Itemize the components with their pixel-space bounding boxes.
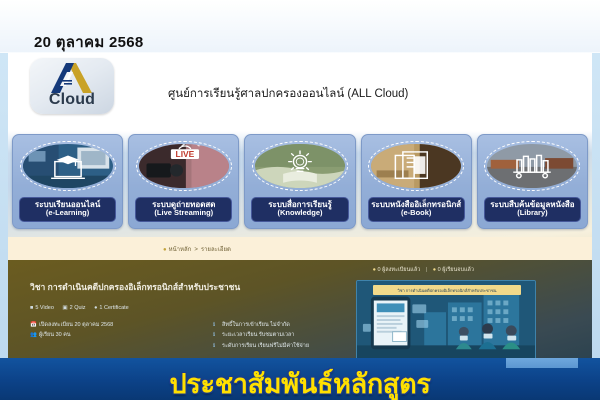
stat-video: ■5 Video <box>30 305 54 311</box>
course-illustration[interactable]: วิชา การดำเนินคดีปกครองอิเล็กทรอนิกส์สำห… <box>356 280 536 362</box>
tile-e-learning[interactable]: ระบบเรียนออนไลน์ (e-Learning) <box>12 134 123 229</box>
stat-video-text: 5 Video <box>35 305 54 311</box>
breadcrumb: ●หน้าหลัก>รายละเอียด <box>163 244 231 254</box>
tile-image-frame: LIVE <box>136 141 232 191</box>
completed-icon: ● <box>433 267 436 273</box>
banner-headline: ประชาสัมพันธ์หลักสูตร <box>0 362 600 400</box>
tile-knowledge[interactable]: ระบบสื่อการเรียนรู้ (Knowledge) <box>244 134 355 229</box>
all-cloud-logo[interactable]: Cloud <box>30 58 114 114</box>
bottom-banner: ประชาสัมพันธ์หลักสูตร <box>0 358 600 400</box>
tiles-band: ระบบเรียนออนไลน์ (e-Learning) <box>8 131 592 237</box>
badge-separator: | <box>426 267 427 273</box>
meta-access-text: สิทธิ์ในการเข้าเรียน ไม่จำกัด <box>222 322 290 328</box>
tile-image-frame <box>252 141 348 191</box>
meta-seats: 👥ผู้เรียน 30 คน <box>30 330 113 340</box>
ebook-icon <box>371 144 461 188</box>
meta-fee: ℹระดับการเรียน เรียนฟรีไม่มีค่าใช้จ่าย <box>213 341 309 351</box>
quiz-icon: ▣ <box>62 305 67 311</box>
tile-label-en: (Library) <box>486 209 579 218</box>
tile-image-frame <box>20 141 116 191</box>
breadcrumb-separator: > <box>194 247 198 253</box>
stat-quiz: ▣2 Quiz <box>62 305 85 311</box>
breadcrumb-home[interactable]: หน้าหลัก <box>169 247 192 253</box>
registered-icon: ● <box>373 267 376 273</box>
illustration-caption: วิชา การดำเนินคดีปกครองอิเล็กทรอนิกส์สำห… <box>373 285 521 295</box>
tile-label: ระบบดูถ่ายทอดสด (Live Streaming) <box>135 197 232 222</box>
users-icon: 👥 <box>30 330 37 340</box>
live-broadcast-icon: LIVE <box>139 144 229 188</box>
tile-label: ระบบสื่อการเรียนรู้ (Knowledge) <box>251 197 348 222</box>
page-edge-right <box>592 53 600 375</box>
tile-label-en: (Knowledge) <box>253 209 346 218</box>
site-card: Cloud ศูนย์การเรียนรู้ศาลปกครองออนไลน์ (… <box>8 53 592 237</box>
enrollment-badges: ● 0 ผู้ลงทะเบียนแล้ว | ● 0 ผู้เรียนจบแล้… <box>373 266 474 274</box>
calendar-icon: 📅 <box>30 320 37 330</box>
tile-library[interactable]: ระบบสืบค้นข้อมูลหนังสือ (Library) <box>477 134 588 229</box>
info-icon: ℹ <box>213 320 220 330</box>
tile-live-streaming[interactable]: LIVE ระบบดูถ่ายทอดสด (Live Streaming) <box>128 134 239 229</box>
registered-count: 0 ผู้ลงทะเบียนแล้ว <box>377 267 420 273</box>
tile-e-book[interactable]: ระบบหนังสืออิเล็กทรอนิกส์ (e-Book) <box>361 134 472 229</box>
tiles-row: ระบบเรียนออนไลน์ (e-Learning) <box>12 134 588 232</box>
course-meta-left: 📅เปิดลงทะเบียน 20 ตุลาคม 2568 👥ผู้เรียน … <box>30 320 113 341</box>
stat-quiz-text: 2 Quiz <box>70 305 86 311</box>
site-title: ศูนย์การเรียนรู้ศาลปกครองออนไลน์ (ALL Cl… <box>168 85 408 103</box>
stat-certificate: ●1 Certificate <box>94 305 129 311</box>
video-icon: ■ <box>30 305 33 311</box>
course-stats: ■5 Video ▣2 Quiz ●1 Certificate <box>30 305 136 311</box>
location-pin-icon: ● <box>163 247 167 253</box>
meta-fee-text: ระดับการเรียน เรียนฟรีไม่มีค่าใช้จ่าย <box>222 343 309 349</box>
tile-label-en: (e-Learning) <box>21 209 114 218</box>
meta-registration-date: 📅เปิดลงทะเบียน 20 ตุลาคม 2568 <box>30 320 113 330</box>
lightbulb-book-icon <box>255 144 345 188</box>
current-date: 20 ตุลาคม 2568 <box>34 30 144 54</box>
certificate-icon: ● <box>94 305 97 311</box>
completed-count: 0 ผู้เรียนจบแล้ว <box>438 267 474 273</box>
meta-access: ℹสิทธิ์ในการเข้าเรียน ไม่จำกัด <box>213 320 309 330</box>
bookshelf-cart-icon <box>487 144 577 188</box>
site-header: Cloud ศูนย์การเรียนรู้ศาลปกครองออนไลน์ (… <box>8 53 592 131</box>
page-edge-left <box>0 53 8 375</box>
meta-duration: ℹระยะเวลาเรียน รับชมตามเวลา <box>213 330 309 340</box>
tile-image-frame <box>368 141 464 191</box>
tile-label: ระบบหนังสืออิเล็กทรอนิกส์ (e-Book) <box>368 197 465 222</box>
tile-label: ระบบสืบค้นข้อมูลหนังสือ (Library) <box>484 197 581 222</box>
date-strip: 20 ตุลาคม 2568 <box>0 0 600 52</box>
logo-a-mark <box>46 62 98 94</box>
meta-duration-text: ระยะเวลาเรียน รับชมตามเวลา <box>222 332 294 338</box>
logo-wordmark: Cloud <box>30 91 114 109</box>
tile-label-en: (Live Streaming) <box>137 209 230 218</box>
info-icon: ℹ <box>213 330 220 340</box>
course-meta-right: ℹสิทธิ์ในการเข้าเรียน ไม่จำกัด ℹระยะเวลา… <box>213 320 309 351</box>
info-icon: ℹ <box>213 341 220 351</box>
meta-registration-date-text: เปิดลงทะเบียน 20 ตุลาคม 2568 <box>39 322 113 328</box>
stat-certificate-text: 1 Certificate <box>99 305 128 311</box>
meta-seats-text: ผู้เรียน 30 คน <box>39 332 71 338</box>
svg-text:LIVE: LIVE <box>175 150 194 159</box>
tile-image-frame <box>484 141 580 191</box>
laptop-graduation-icon <box>23 144 113 188</box>
screenshot-root: 20 ตุลาคม 2568 Cloud ศูนย์การเรียนรู้ศาล… <box>0 0 600 400</box>
breadcrumb-strip: ●หน้าหลัก>รายละเอียด <box>8 237 592 260</box>
tile-label: ระบบเรียนออนไลน์ (e-Learning) <box>19 197 116 222</box>
breadcrumb-current: รายละเอียด <box>201 247 231 253</box>
tile-label-en: (e-Book) <box>370 209 463 218</box>
course-title: วิชา การดำเนินคดีปกครองอิเล็กทรอนิกส์สำห… <box>30 280 240 294</box>
